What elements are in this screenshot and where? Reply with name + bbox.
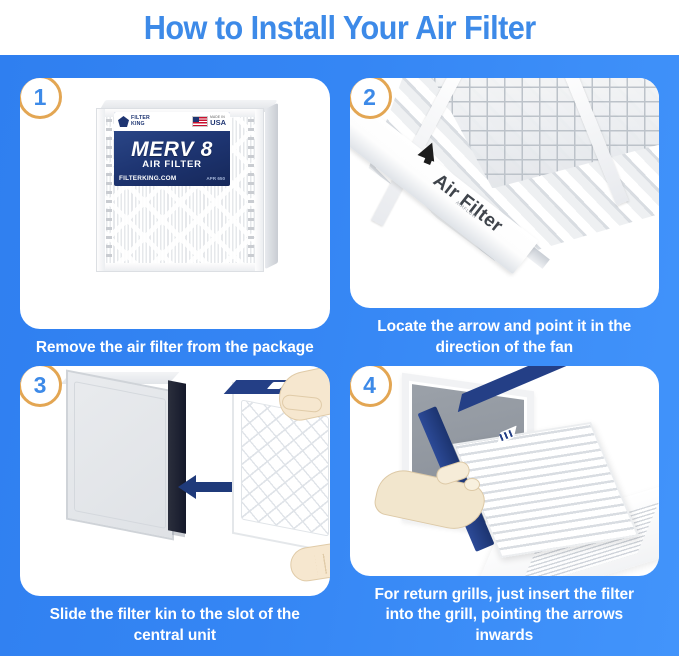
installer-fingertip <box>464 478 480 491</box>
step-3-illustration <box>20 366 330 596</box>
crown-icon <box>118 116 129 127</box>
label-header-strip: FILTER KING MADE IN USA <box>114 112 230 131</box>
steps-board: 1 <box>0 55 679 656</box>
filter-product-label: FILTER KING MADE IN USA <box>114 112 230 186</box>
step-4-card: 4 <box>350 366 660 576</box>
merv8-filter-graphic: FILTER KING MADE IN USA <box>96 100 278 276</box>
step-4: 4 For return grills, just insert the <box>350 366 660 646</box>
step-4-number-badge: 4 <box>350 366 392 407</box>
step-2-number-badge: 2 <box>350 78 392 119</box>
filter-tabs-right <box>248 119 254 261</box>
steps-grid: 1 <box>0 55 679 656</box>
filter-frame-left <box>97 109 105 271</box>
page-title: How to Install Your Air Filter <box>144 11 536 44</box>
filter-side-edge <box>265 103 278 269</box>
step-4-illustration <box>350 366 660 576</box>
label-footer-strip: FILTERKING.COM APR 650 <box>119 175 225 182</box>
page-header: How to Install Your Air Filter <box>0 0 679 55</box>
slide-direction-arrow-icon <box>195 482 237 492</box>
slot-dark-edge <box>168 380 186 533</box>
apr-code-label: APR 650 <box>206 176 225 181</box>
filter-panel-mesh <box>241 399 329 536</box>
step-2: 2 Air Filter AIRFLOW Locate the arrow an… <box>350 78 660 358</box>
product-type-label: AIR FILTER <box>114 159 230 170</box>
step-3-card: 3 <box>20 366 330 596</box>
website-label: FILTERKING.COM <box>119 175 176 182</box>
usa-flag-icon <box>192 116 208 127</box>
filter-frame-right <box>255 109 263 271</box>
step-4-caption: For return grills, just insert the filte… <box>350 576 660 646</box>
step-3: 3 <box>20 366 330 646</box>
step-3-caption: Slide the filter kin to the slot of the … <box>20 596 330 646</box>
made-in-usa-badge: MADE IN USA <box>192 116 226 127</box>
step-2-illustration: Air Filter AIRFLOW <box>350 78 660 308</box>
slot-inner-outline <box>74 381 166 529</box>
step-1-caption: Remove the air filter from the package <box>20 329 330 358</box>
step-1-illustration: FILTER KING MADE IN USA <box>20 78 330 329</box>
brand-line-2: KING <box>131 122 150 127</box>
filter-frame-bottom <box>97 263 263 271</box>
step-2-caption: Locate the arrow and point it in the dir… <box>350 308 660 358</box>
made-in-usa-text: MADE IN USA <box>210 116 226 127</box>
step-1: 1 <box>20 78 330 358</box>
brand-text: FILTER KING <box>131 116 150 127</box>
filter-king-logo: FILTER KING <box>118 116 150 127</box>
step-2-card: 2 Air Filter AIRFLOW <box>350 78 660 308</box>
country-label: USA <box>210 119 226 127</box>
filter-tabs-left <box>106 119 112 261</box>
step-1-card: 1 <box>20 78 330 329</box>
